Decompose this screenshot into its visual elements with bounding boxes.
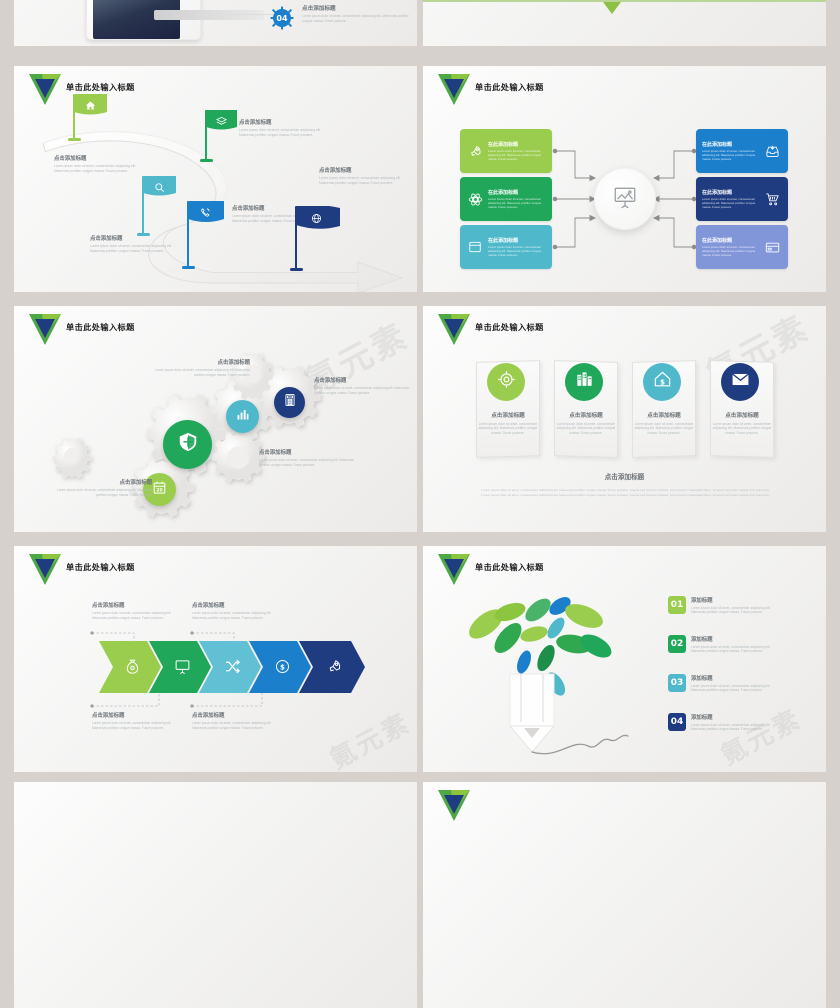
item-body: Lorem ipsum dolor sit amet, consectetuer…	[691, 645, 773, 654]
phone-icon	[200, 205, 211, 223]
num-item-1[interactable]: 01 添加标题 Lorem ipsum dolor sit amet, cons…	[668, 596, 773, 615]
home-icon	[85, 98, 96, 116]
num-badge: 04	[668, 713, 686, 731]
slide-arrows[interactable]: 单击此处输入标题 氪元素	[14, 546, 417, 772]
banner-pointer-icon	[603, 2, 621, 14]
card-text-4: 点击添加标题 Lorem ipsum dolor sit amet, conse…	[711, 411, 773, 435]
gear-text-1: 点击添加标题 Lorem ipsum dolor sit amet, conse…	[154, 358, 250, 377]
card-icon-2	[565, 363, 603, 401]
num-item-2[interactable]: 02 添加标题 Lorem ipsum dolor sit amet, cons…	[668, 635, 773, 654]
item-title: 点击添加标题	[192, 601, 272, 609]
hub-card-right-3[interactable]: 在此添加标题 Lorem ipsum dolor sit amet, conse…	[696, 225, 788, 269]
item-title: 点击添加标题	[56, 478, 152, 486]
card-icon-1	[487, 363, 525, 401]
target-icon	[497, 370, 516, 394]
tablet-device	[86, 0, 201, 40]
slide-hub[interactable]: 单击此处输入标题	[423, 66, 826, 292]
brand-logo-icon	[437, 312, 471, 346]
pencil-plant-icon	[448, 588, 648, 763]
gear-node-chart[interactable]	[226, 400, 259, 433]
item-title: 点击添加标题	[259, 448, 355, 456]
slide-flags[interactable]: 单击此处输入标题	[14, 66, 417, 292]
item-body: Lorem ipsum dolor sit amet, consectetuer…	[691, 684, 773, 693]
arrow-callout-top-2: 点击添加标题 Lorem ipsum dolor sit amet, conse…	[192, 601, 272, 620]
item-body: Lorem ipsum dolor sit amet, consectetuer…	[239, 128, 325, 138]
hub-center[interactable]	[594, 168, 656, 230]
num-badge: 01	[668, 596, 686, 614]
brand-logo-icon	[437, 788, 471, 822]
inbox-download-icon	[761, 140, 783, 162]
card-icon-3: $	[643, 363, 681, 401]
layers-icon	[216, 114, 227, 132]
item-body: Lorem ipsum dolor sit amet, consectetuer…	[259, 458, 355, 467]
item-body: Lorem ipsum dolor sit amet, consectetuer…	[319, 176, 405, 186]
item-title: 在此添加标题	[488, 237, 545, 244]
item-title: 添加标题	[691, 713, 773, 721]
green-banner-strip	[423, 0, 826, 2]
slide-top-right-partial[interactable]	[423, 0, 826, 46]
cards-footer-body: Lorem ipsum dolor sit amet, consectetuer…	[478, 488, 773, 498]
flag-text-1: 点击添加标题 Lorem ipsum dolor sit amet, conse…	[54, 154, 140, 174]
item-title: 点击添加标题	[555, 411, 617, 419]
atom-icon	[464, 188, 486, 210]
item-title: 点击添加标题	[314, 376, 410, 384]
slide-title: 单击此处输入标题	[475, 321, 544, 333]
item-body: Lorem ipsum dolor sit amet, consectetuer…	[92, 611, 172, 620]
envelope-icon	[731, 370, 750, 394]
item-body: Lorem ipsum dolor sit amet, consectetuer…	[633, 422, 695, 436]
item-title: 点击添加标题	[54, 154, 140, 162]
item-title: 点击添加标题	[154, 358, 250, 366]
item-title: 点击添加标题	[319, 166, 405, 174]
item-title: 点击添加标题	[90, 234, 176, 242]
item-body: Lorem ipsum dolor sit amet, consectetuer…	[54, 164, 140, 174]
num-item-3[interactable]: 03 添加标题 Lorem ipsum dolor sit amet, cons…	[668, 674, 773, 693]
item-body: Lorem ipsum dolor sit amet, consectetuer…	[92, 721, 172, 730]
num-badge: 03	[668, 674, 686, 692]
hub-card-right-1[interactable]: 在此添加标题 Lorem ipsum dolor sit amet, conse…	[696, 129, 788, 173]
item-body: Lorem ipsum dolor sit amet, consectetuer…	[302, 14, 412, 23]
svg-text:20: 20	[156, 487, 163, 493]
num-item-4[interactable]: 04 添加标题 Lorem ipsum dolor sit amet, cons…	[668, 713, 773, 732]
credit-card-icon	[761, 236, 783, 258]
calendar-icon: 20	[152, 480, 167, 500]
item-body: Lorem ipsum dolor sit amet, consectetuer…	[488, 197, 545, 209]
top-left-partial-text: 点击添加标题 Lorem ipsum dolor sit amet, conse…	[302, 4, 412, 23]
item-body: Lorem ipsum dolor sit amet, consectetuer…	[711, 422, 773, 436]
search-icon	[154, 180, 165, 198]
calculator-icon	[283, 393, 297, 412]
item-title: 点击添加标题	[92, 601, 172, 609]
slide-bottom-left-partial[interactable]	[14, 782, 417, 1008]
card-text-1: 点击添加标题 Lorem ipsum dolor sit amet, conse…	[477, 411, 539, 435]
item-body: Lorem ipsum dolor sit amet, consectetuer…	[90, 244, 176, 254]
flag-text-5: 点击添加标题 Lorem ipsum dolor sit amet, conse…	[319, 166, 405, 186]
slide-title: 单击此处输入标题	[475, 561, 544, 573]
globe-icon	[311, 211, 322, 229]
window-icon	[464, 236, 486, 258]
slide-bottom-right-partial[interactable]	[423, 782, 826, 1008]
callout-leaders	[14, 546, 417, 772]
item-title: 在此添加标题	[702, 141, 759, 148]
flag-text-2: 点击添加标题 Lorem ipsum dolor sit amet, conse…	[239, 118, 325, 138]
bar-chart-icon	[235, 407, 250, 427]
card-icon-4	[721, 363, 759, 401]
brand-logo-icon	[437, 552, 471, 586]
gears-graphic	[14, 306, 417, 532]
slide-cards[interactable]: 单击此处输入标题 氪元素	[423, 306, 826, 532]
item-body: Lorem ipsum dolor sit amet, consectetuer…	[702, 197, 759, 209]
item-body: Lorem ipsum dolor sit amet, consectetuer…	[488, 149, 545, 161]
item-body: Lorem ipsum dolor sit amet, consectetuer…	[154, 368, 250, 377]
gear-node-shield[interactable]	[163, 420, 212, 469]
item-title: 点击添加标题	[302, 4, 412, 12]
card-text-2: 点击添加标题 Lorem ipsum dolor sit amet, conse…	[555, 411, 617, 435]
hub-card-left-3[interactable]: 在此添加标题 Lorem ipsum dolor sit amet, conse…	[460, 225, 552, 269]
item-title: 添加标题	[691, 635, 773, 643]
item-body: Lorem ipsum dolor sit amet, consectetuer…	[702, 149, 759, 161]
item-body: Lorem ipsum dolor sit amet, consectetuer…	[477, 422, 539, 436]
item-body: Lorem ipsum dolor sit amet, consectetuer…	[691, 723, 773, 732]
flag-text-3: 点击添加标题 Lorem ipsum dolor sit amet, conse…	[90, 234, 176, 254]
stylus-icon	[154, 10, 264, 20]
item-body: Lorem ipsum dolor sit amet, consectetuer…	[702, 245, 759, 257]
arrow-callout-top-1: 点击添加标题 Lorem ipsum dolor sit amet, conse…	[92, 601, 172, 620]
item-title: 添加标题	[691, 596, 773, 604]
gear-text-4: 点击添加标题 Lorem ipsum dolor sit amet, conse…	[56, 478, 152, 497]
watermark: 氪元素	[713, 699, 807, 772]
item-body: Lorem ipsum dolor sit amet, consectetuer…	[488, 245, 545, 257]
item-title: 点击添加标题	[92, 711, 172, 719]
house-money-icon: $	[653, 370, 672, 394]
num-badge: 02	[668, 635, 686, 653]
badge-number: 04	[276, 14, 288, 23]
hub-card-left-2[interactable]: 在此添加标题 Lorem ipsum dolor sit amet, conse…	[460, 177, 552, 221]
gear-text-3: 点击添加标题 Lorem ipsum dolor sit amet, conse…	[259, 448, 355, 467]
item-title: 在此添加标题	[702, 237, 759, 244]
shield-icon	[177, 431, 199, 458]
card-text-3: 点击添加标题 Lorem ipsum dolor sit amet, conse…	[633, 411, 695, 435]
arrow-callout-bottom-2: 点击添加标题 Lorem ipsum dolor sit amet, conse…	[192, 711, 272, 730]
svg-text:$: $	[660, 377, 665, 386]
item-title: 在此添加标题	[488, 189, 545, 196]
shopping-cart-icon	[761, 188, 783, 210]
item-title: 点击添加标题	[633, 411, 695, 419]
item-body: Lorem ipsum dolor sit amet, consectetuer…	[555, 422, 617, 436]
slide-grid: 04 点击添加标题 Lorem ipsum dolor sit amet, co…	[0, 0, 840, 788]
item-title: 在此添加标题	[488, 141, 545, 148]
item-title: 添加标题	[691, 674, 773, 682]
hub-card-right-2[interactable]: 在此添加标题 Lorem ipsum dolor sit amet, conse…	[696, 177, 788, 221]
item-body: Lorem ipsum dolor sit amet, consectetuer…	[56, 488, 152, 497]
buildings-icon	[575, 370, 594, 394]
presentation-image-icon	[612, 184, 638, 215]
item-title: 点击添加标题	[239, 118, 325, 126]
gear-node-calculator[interactable]	[274, 387, 305, 418]
hub-card-left-1[interactable]: 在此添加标题 Lorem ipsum dolor sit amet, conse…	[460, 129, 552, 173]
item-title: 点击添加标题	[711, 411, 773, 419]
slide-pencil[interactable]: 单击此处输入标题 氪元素	[423, 546, 826, 772]
item-body: Lorem ipsum dolor sit amet, consectetuer…	[314, 386, 410, 395]
cards-footer-title: 点击添加标题	[423, 471, 826, 481]
arrow-callout-bottom-1: 点击添加标题 Lorem ipsum dolor sit amet, conse…	[92, 711, 172, 730]
gear-text-2: 点击添加标题 Lorem ipsum dolor sit amet, conse…	[314, 376, 410, 395]
rocket-icon	[464, 140, 486, 162]
item-body: Lorem ipsum dolor sit amet, consectetuer…	[192, 721, 272, 730]
slide-top-left-partial[interactable]: 04 点击添加标题 Lorem ipsum dolor sit amet, co…	[14, 0, 417, 46]
slide-gears[interactable]: 单击此处输入标题 氪元素	[14, 306, 417, 532]
item-body: Lorem ipsum dolor sit amet, consectetuer…	[192, 611, 272, 620]
gear-badge-icon: 04	[270, 6, 294, 30]
item-title: 点击添加标题	[192, 711, 272, 719]
item-title: 点击添加标题	[477, 411, 539, 419]
item-body: Lorem ipsum dolor sit amet, consectetuer…	[691, 606, 773, 615]
item-title: 在此添加标题	[702, 189, 759, 196]
